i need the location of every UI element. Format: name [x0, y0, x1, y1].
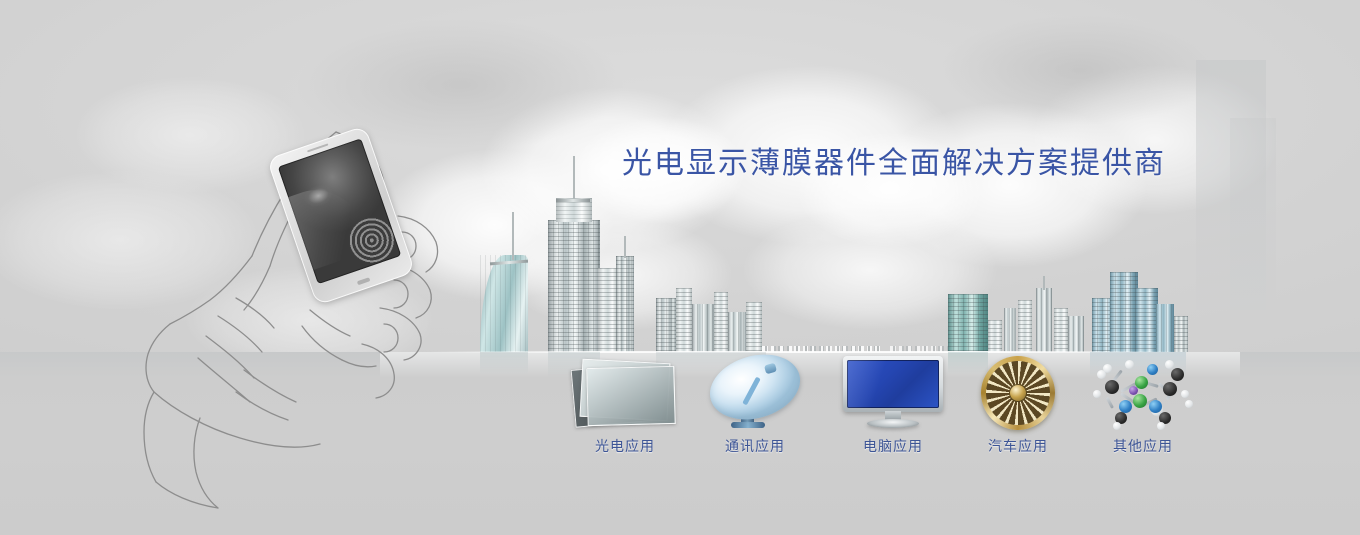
app-item-optoelectronic[interactable]: 光电应用	[550, 352, 700, 456]
satellite-dish-icon	[680, 352, 830, 430]
tower-m	[1036, 288, 1052, 360]
molecule-model-icon	[1068, 352, 1218, 430]
sail-tower	[480, 255, 528, 360]
main-tower-spire	[573, 156, 575, 200]
main-tower	[548, 220, 600, 360]
application-icon-row: 光电应用 通讯应用	[0, 352, 1360, 472]
hero-banner: 光电显示薄膜器件全面解决方案提供商	[0, 0, 1360, 535]
tower-e	[676, 288, 692, 360]
app-item-other[interactable]: 其他应用	[1068, 352, 1218, 456]
phone-home-button	[357, 277, 371, 285]
blue-tower-c	[1136, 288, 1158, 360]
tower-c	[616, 256, 634, 360]
app-item-communication[interactable]: 通讯应用	[680, 352, 830, 456]
blue-tower-b	[1110, 272, 1138, 360]
sail-spire	[512, 212, 514, 260]
app-label-communication: 通讯应用	[680, 436, 830, 456]
app-label-optoelectronic: 光电应用	[550, 436, 700, 456]
tower-b	[598, 268, 618, 360]
main-tower-antenna-arm	[556, 199, 590, 202]
tower-g	[714, 292, 728, 360]
app-label-other: 其他应用	[1068, 436, 1218, 456]
glass-panel-stack-icon	[550, 352, 700, 430]
page-title: 光电显示薄膜器件全面解决方案提供商	[622, 138, 1166, 182]
tower-c-spire	[624, 236, 626, 258]
tower-m-spire	[1043, 276, 1045, 290]
